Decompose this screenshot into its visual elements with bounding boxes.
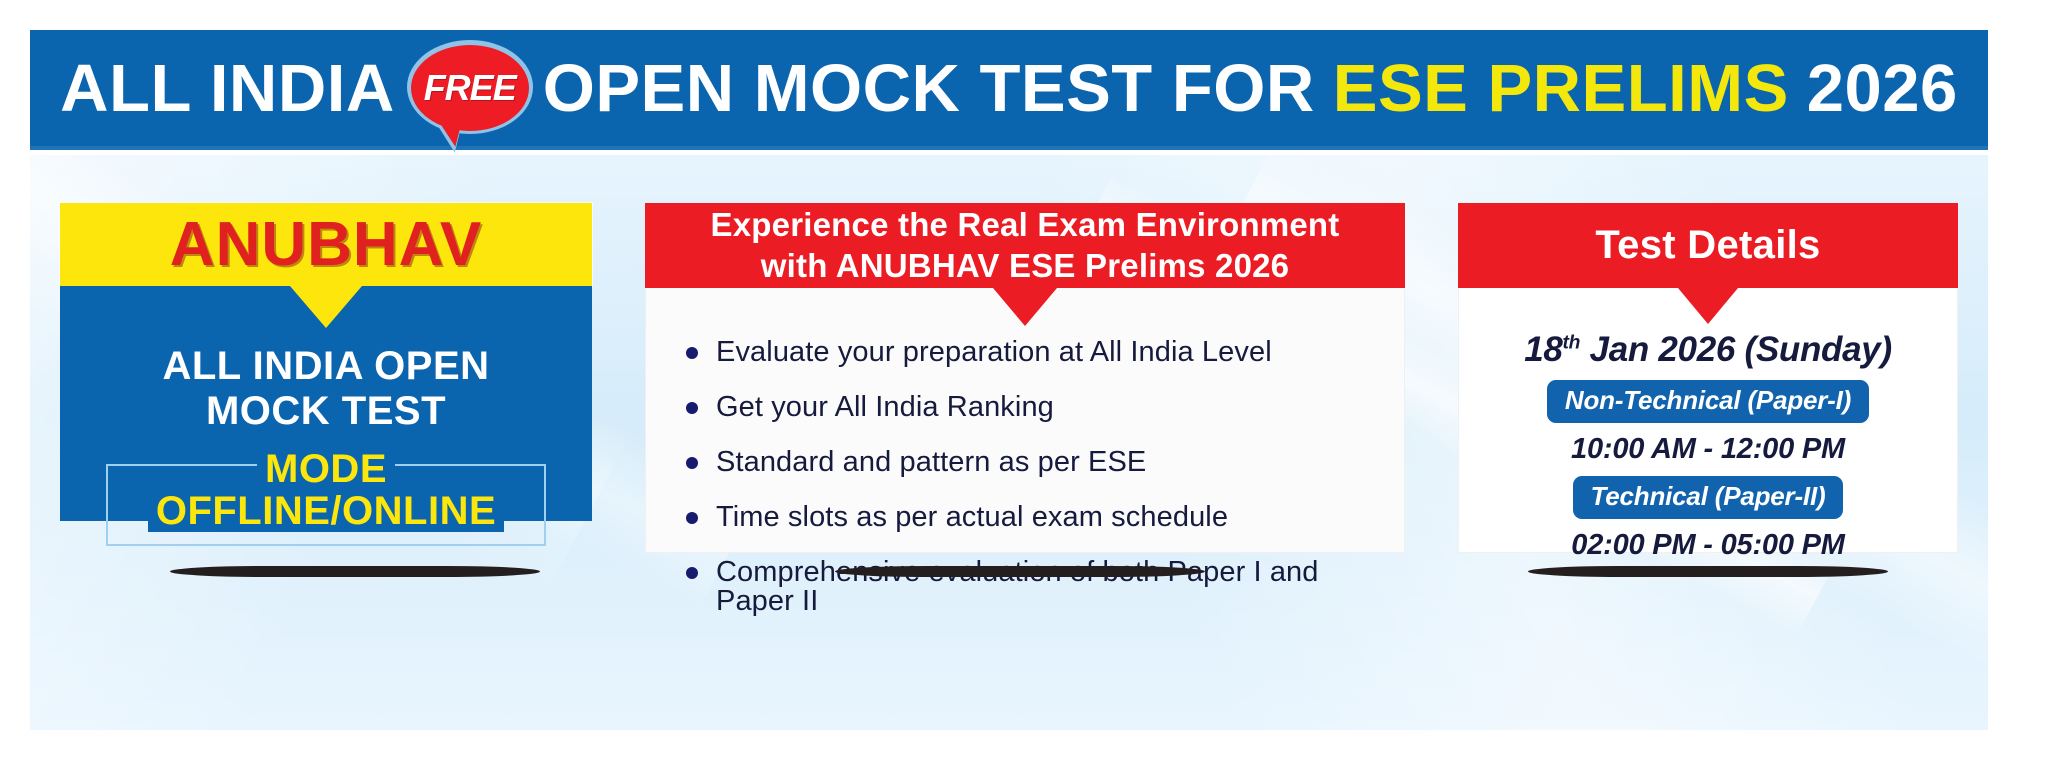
anubhav-line-2: MOCK TEST: [206, 389, 446, 434]
card-shadow: [170, 566, 540, 577]
headline-bar: ALL INDIA FREE OPEN MOCK TEST FOR ESE PR…: [30, 30, 1988, 150]
list-item-label: Time slots as per actual exam schedule: [716, 501, 1228, 533]
list-item: Evaluate your preparation at All India L…: [676, 338, 1404, 367]
free-badge: FREE: [411, 45, 529, 131]
headline-part-1: ALL INDIA: [60, 50, 395, 127]
experience-header-line-1: Experience the Real Exam Environment: [711, 205, 1340, 245]
paper-1-badge: Non-Technical (Paper-I): [1547, 380, 1869, 423]
paper-2-badge: Technical (Paper-II): [1573, 476, 1844, 519]
bullet-dot-icon: [686, 512, 698, 524]
experience-body: Evaluate your preparation at All India L…: [645, 288, 1405, 553]
mode-label: MODE: [257, 448, 395, 490]
test-details-header: Test Details: [1458, 203, 1958, 288]
bullet-dot-icon: [686, 347, 698, 359]
bullet-dot-icon: [686, 457, 698, 469]
promo-banner: ALL INDIA FREE OPEN MOCK TEST FOR ESE PR…: [30, 30, 1988, 730]
list-item: Standard and pattern as per ESE: [676, 448, 1404, 477]
free-label: FREE: [424, 67, 516, 109]
list-item-label: Standard and pattern as per ESE: [716, 446, 1146, 478]
anubhav-notch-icon: [290, 286, 362, 328]
headline-part-3: 2026: [1807, 50, 1958, 127]
test-date: 18th Jan 2026 (Sunday): [1524, 330, 1892, 370]
card-shadow: [835, 566, 1205, 577]
test-date-rest: Jan 2026 (Sunday): [1580, 330, 1892, 369]
list-item: Time slots as per actual exam schedule: [676, 503, 1404, 532]
anubhav-title: ANUBHAV: [170, 209, 482, 280]
banner-body: ANUBHAV ALL INDIA OPEN MOCK TEST MODE OF…: [30, 155, 1988, 730]
card-shadow: [1528, 566, 1888, 577]
bullet-dot-icon: [686, 567, 698, 579]
anubhav-ribbon: ANUBHAV: [60, 203, 592, 286]
experience-card: Experience the Real Exam Environment wit…: [645, 203, 1405, 553]
mode-value: OFFLINE/ONLINE: [148, 490, 504, 532]
mode-block: MODE OFFLINE/ONLINE: [106, 448, 546, 532]
test-details-notch-icon: [1678, 288, 1738, 324]
test-details-title: Test Details: [1595, 223, 1820, 268]
test-details-card: Test Details 18th Jan 2026 (Sunday) Non-…: [1458, 203, 1958, 553]
headline-text: ALL INDIA FREE OPEN MOCK TEST FOR ESE PR…: [60, 45, 1958, 131]
list-item-label: Get your All India Ranking: [716, 391, 1054, 423]
headline-highlight: ESE PRELIMS: [1333, 50, 1789, 127]
free-bubble: FREE: [411, 45, 529, 131]
test-date-ordinal: th: [1563, 332, 1581, 353]
anubhav-line-1: ALL INDIA OPEN: [162, 344, 489, 389]
bullet-dot-icon: [686, 402, 698, 414]
list-item-label: Evaluate your preparation at All India L…: [716, 336, 1272, 368]
experience-header: Experience the Real Exam Environment wit…: [645, 203, 1405, 288]
list-item: Get your All India Ranking: [676, 393, 1404, 422]
headline-part-2: OPEN MOCK TEST FOR: [543, 50, 1315, 127]
anubhav-card: ANUBHAV ALL INDIA OPEN MOCK TEST MODE OF…: [60, 203, 592, 521]
experience-notch-icon: [993, 288, 1057, 326]
experience-header-line-2: with ANUBHAV ESE Prelims 2026: [761, 246, 1289, 286]
paper-1-time: 10:00 AM - 12:00 PM: [1571, 433, 1845, 466]
test-date-day: 18: [1524, 330, 1562, 369]
paper-2-time: 02:00 PM - 05:00 PM: [1571, 529, 1844, 562]
test-details-body: 18th Jan 2026 (Sunday) Non-Technical (Pa…: [1458, 288, 1958, 553]
